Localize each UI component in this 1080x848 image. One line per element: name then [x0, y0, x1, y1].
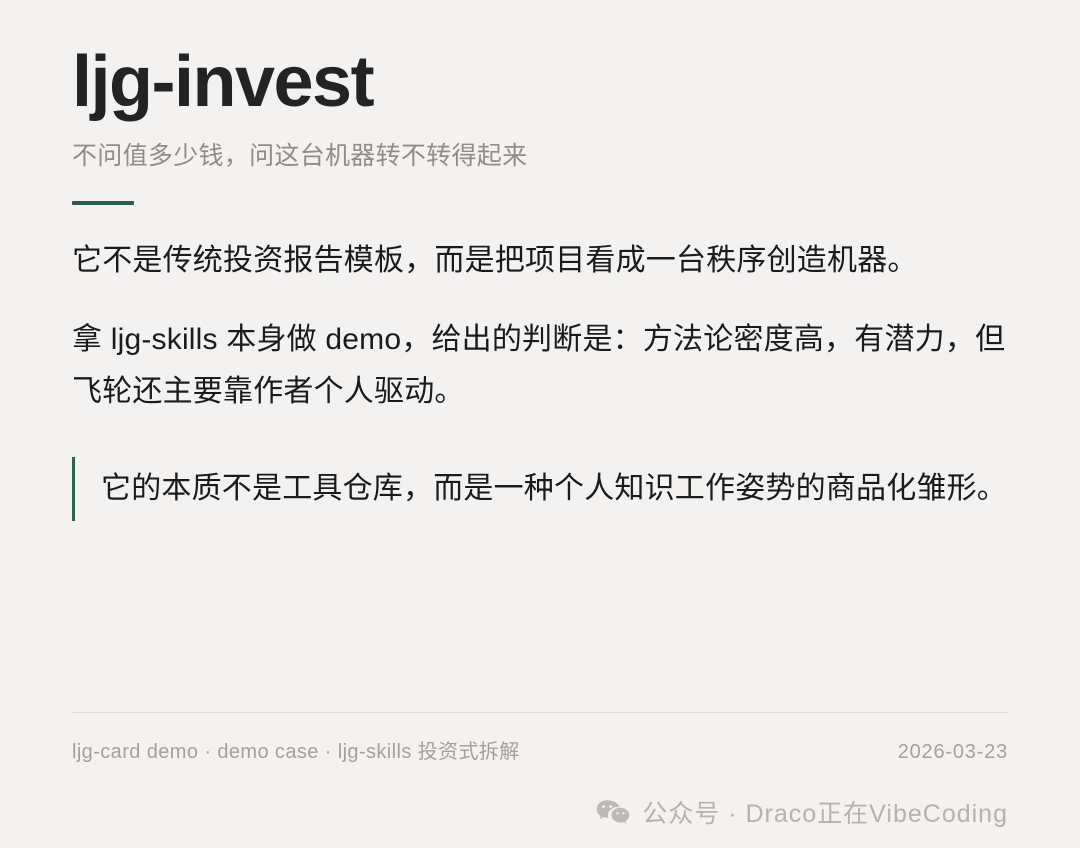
page-subtitle: 不问值多少钱，问这台机器转不转得起来	[72, 118, 1008, 173]
watermark: 公众号 · Draco正在VibeCoding	[596, 794, 1008, 830]
page-title: ljg-invest	[72, 46, 1008, 118]
body-paragraph: 它不是传统投资报告模板，而是把项目看成一台秩序创造机器。	[72, 235, 1008, 287]
footer-date: 2026-03-23	[898, 741, 1008, 764]
wechat-icon	[596, 799, 630, 825]
footer-row: ljg-card demo · demo case · ljg-skills 投…	[72, 713, 1008, 764]
highlight-quote: 它的本质不是工具仓库，而是一种个人知识工作姿势的商品化雏形。	[72, 457, 1008, 521]
footer-meta: ljg-card demo · demo case · ljg-skills 投…	[72, 735, 520, 764]
highlight-quote-text: 它的本质不是工具仓库，而是一种个人知识工作姿势的商品化雏形。	[101, 463, 1008, 515]
card-header: ljg-invest 不问值多少钱，问这台机器转不转得起来	[72, 0, 1008, 205]
card-body: 它不是传统投资报告模板，而是把项目看成一台秩序创造机器。 拿 ljg-skill…	[72, 205, 1008, 521]
card-footer: ljg-card demo · demo case · ljg-skills 投…	[72, 712, 1008, 764]
card-root: ljg-invest 不问值多少钱，问这台机器转不转得起来 它不是传统投资报告模…	[0, 0, 1080, 848]
watermark-text: 公众号 · Draco正在VibeCoding	[642, 794, 1008, 830]
body-paragraph: 拿 ljg-skills 本身做 demo，给出的判断是：方法论密度高，有潜力，…	[72, 314, 1008, 417]
